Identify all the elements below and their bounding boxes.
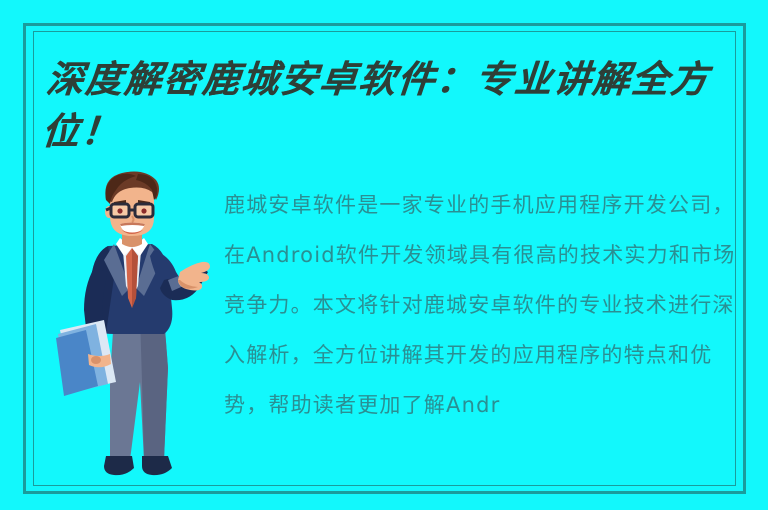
- poster-body-text: 鹿城安卓软件是一家专业的手机应用程序开发公司，在Android软件开发领域具有很…: [224, 180, 736, 480]
- poster-canvas: 深度解密鹿城安卓软件：专业讲解全方位！ 鹿城安卓软件是一家专业的手机应用程序开发…: [0, 0, 768, 510]
- businessman-illustration: [52, 168, 212, 478]
- poster-title: 深度解密鹿城安卓软件：专业讲解全方位！: [39, 55, 748, 159]
